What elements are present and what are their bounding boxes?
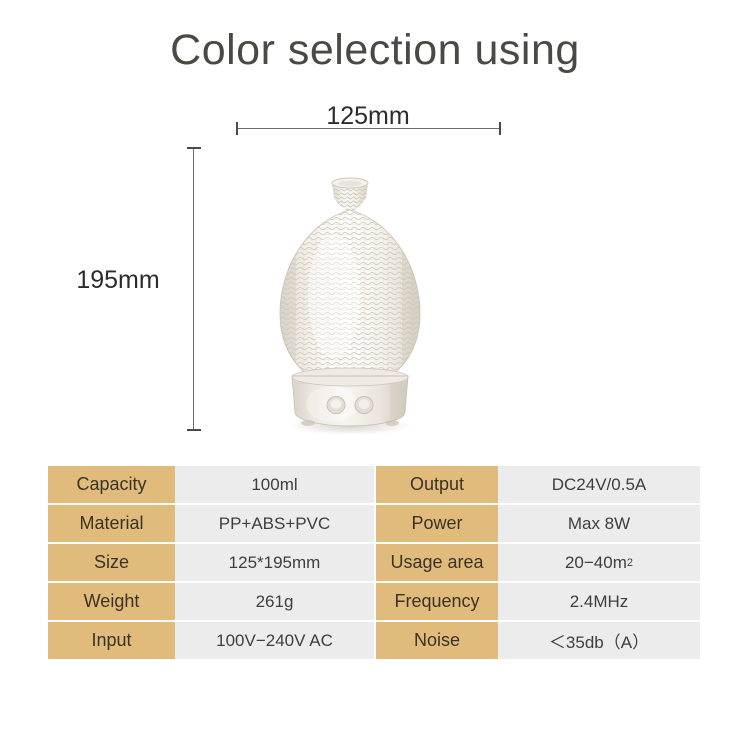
table-row: Capacity 100ml Output DC24V/0.5A xyxy=(48,466,700,503)
table-row: Size 125*195mm Usage area 20−40m2 xyxy=(48,544,700,581)
height-dimension-tick-top xyxy=(187,147,201,149)
spec-value-frequency: 2.4MHz xyxy=(498,583,700,620)
spec-value-weight: 261g xyxy=(175,583,374,620)
usage-area-number: 20−40m xyxy=(565,553,627,573)
spec-label-weight: Weight xyxy=(48,583,175,620)
spec-value-output: DC24V/0.5A xyxy=(498,466,700,503)
width-dimension-tick-left xyxy=(236,122,238,135)
spec-label-usage-area: Usage area xyxy=(376,544,498,581)
diffuser-product-image xyxy=(262,176,438,434)
spec-label-output: Output xyxy=(376,466,498,503)
spec-value-material: PP+ABS+PVC xyxy=(175,505,374,542)
table-row: Weight 261g Frequency 2.4MHz xyxy=(48,583,700,620)
table-row: Input 100V−240V AC Noise ＜35db（A） xyxy=(48,622,700,659)
height-dimension-tick-bottom xyxy=(187,429,201,431)
spec-value-power: Max 8W xyxy=(498,505,700,542)
spec-value-usage-area: 20−40m2 xyxy=(498,544,700,581)
spec-label-capacity: Capacity xyxy=(48,466,175,503)
spec-label-input: Input xyxy=(48,622,175,659)
spec-label-noise: Noise xyxy=(376,622,498,659)
spec-value-noise: ＜35db（A） xyxy=(498,622,700,659)
product-dimension-stage: 125mm 195mm xyxy=(0,0,750,455)
spec-label-material: Material xyxy=(48,505,175,542)
spec-label-power: Power xyxy=(376,505,498,542)
table-row: Material PP+ABS+PVC Power Max 8W xyxy=(48,505,700,542)
height-dimension-line xyxy=(193,148,194,431)
spec-label-size: Size xyxy=(48,544,175,581)
width-dimension-tick-right xyxy=(499,122,501,135)
width-dimension-label: 125mm xyxy=(236,102,500,131)
spec-value-size: 125*195mm xyxy=(175,544,374,581)
width-dimension-line xyxy=(237,128,500,129)
spec-value-capacity: 100ml xyxy=(175,466,374,503)
height-dimension-label: 195mm xyxy=(58,266,178,295)
spec-value-input: 100V−240V AC xyxy=(175,622,374,659)
specification-table: Capacity 100ml Output DC24V/0.5A Materia… xyxy=(48,466,700,659)
spec-label-frequency: Frequency xyxy=(376,583,498,620)
